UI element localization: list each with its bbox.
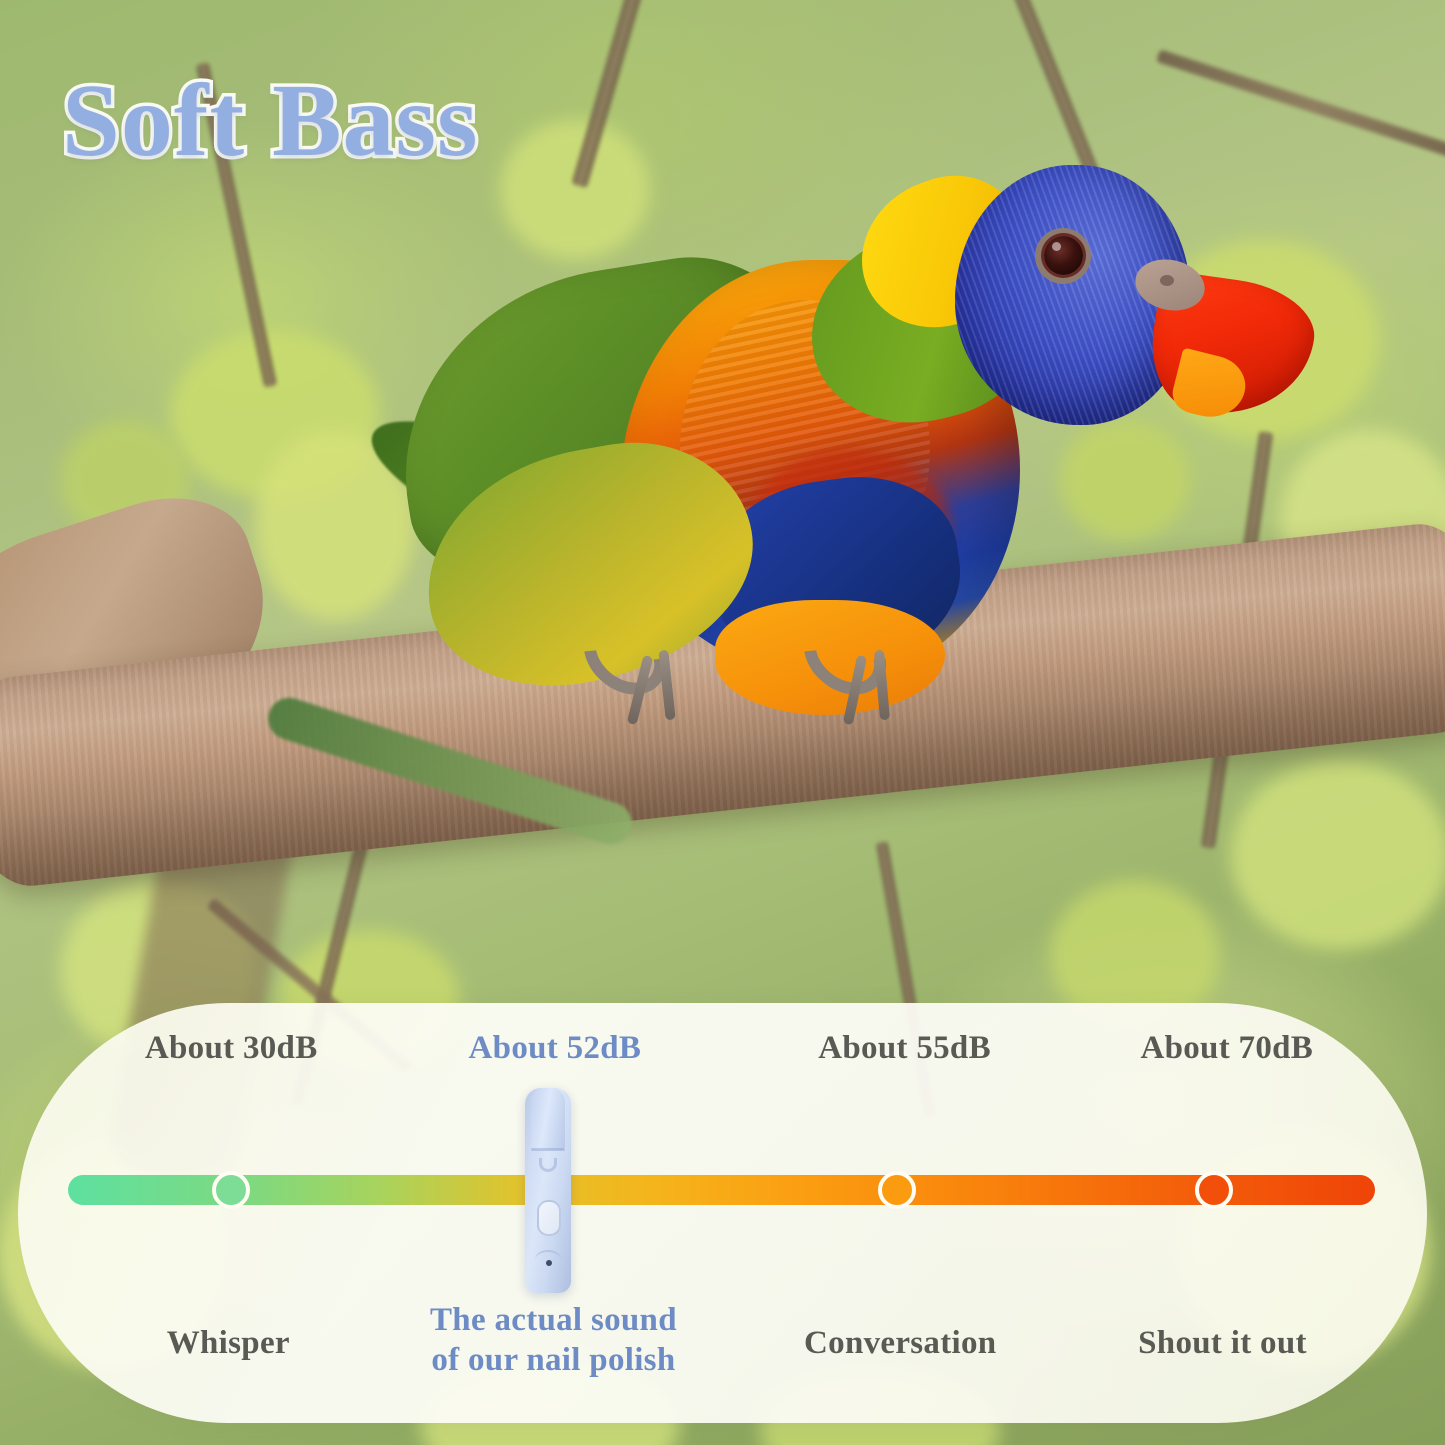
bird-nostril <box>1160 275 1174 286</box>
device-power-button[interactable] <box>537 1200 561 1236</box>
slider-marker-55db[interactable] <box>878 1171 916 1209</box>
bird-eye-highlight <box>1052 242 1061 251</box>
device-seam <box>531 1148 565 1151</box>
bottom-label-line1: The actual sound <box>430 1300 677 1340</box>
bird-claw <box>658 650 675 721</box>
top-label-30db: About 30dB <box>145 1030 318 1067</box>
slider-marker-70db[interactable] <box>1195 1171 1233 1209</box>
top-label-52db: About 52dB <box>469 1030 642 1067</box>
top-label-55db: About 55dB <box>818 1030 991 1067</box>
bottom-label-actual-sound: The actual sound of our nail polish <box>430 1300 677 1381</box>
bottom-label-conversation: Conversation <box>804 1325 996 1362</box>
top-label-70db: About 70dB <box>1140 1030 1313 1067</box>
decibel-slider-track[interactable] <box>68 1175 1375 1205</box>
slider-marker-30db[interactable] <box>212 1171 250 1209</box>
rainbow-lorikeet <box>380 150 1170 710</box>
nail-polish-device <box>525 1088 571 1293</box>
product-infographic: Soft Bass About 30dB About 52dB About 55… <box>0 0 1445 1445</box>
bird-eye <box>1044 236 1083 275</box>
device-indicator-dot <box>546 1260 552 1266</box>
bottom-label-line2: of our nail polish <box>430 1340 677 1380</box>
device-cap <box>531 1088 565 1150</box>
page-title: Soft Bass <box>62 60 478 183</box>
foliage-blob <box>1230 760 1445 950</box>
bottom-label-whisper: Whisper <box>167 1325 290 1362</box>
bottom-label-shout: Shout it out <box>1138 1325 1307 1362</box>
